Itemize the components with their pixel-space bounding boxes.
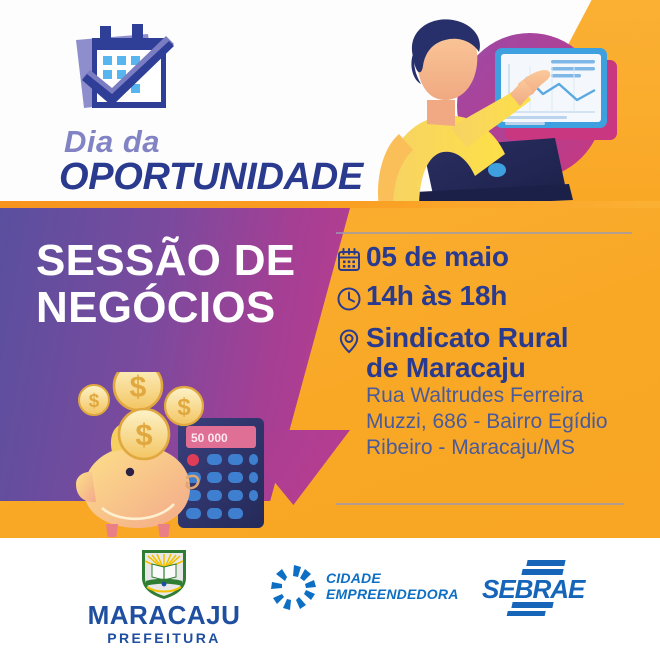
footer-logos: MARACAJU PREFEITURA xyxy=(0,538,660,660)
map-pin-icon xyxy=(336,328,366,354)
man-presenting-chart-illustration xyxy=(355,8,655,213)
detail-row-time: 14h às 18h xyxy=(336,281,636,312)
prefeitura-label: PREFEITURA xyxy=(84,631,244,645)
venue-address-line-3: Ribeiro - Maracaju/MS xyxy=(366,436,636,461)
venue-address-line-1: Rua Waltrudes Ferreira xyxy=(366,384,636,409)
maracaju-coat-of-arms-icon xyxy=(138,548,190,600)
detail-location-text: Sindicato Rural de Maracaju Rua Waltrude… xyxy=(366,323,636,461)
cidade-line-2: EMPREENDEDORA xyxy=(326,587,459,603)
event-details: 05 de maio 14h às 18h Sind xyxy=(336,232,636,512)
event-time: 14h às 18h xyxy=(366,281,636,311)
svg-text:$: $ xyxy=(177,394,191,421)
calendar-icon xyxy=(336,247,366,273)
sebrae-label: SEBRAE xyxy=(482,574,586,604)
svg-text:$: $ xyxy=(135,417,152,452)
venue-name-line-1: Sindicato Rural xyxy=(366,323,636,353)
piggy-bank-coins-calculator-illustration: 50 000 xyxy=(72,372,317,537)
brand-lockup: Dia da OPORTUNIDADE xyxy=(58,22,358,197)
logo-maracaju-prefeitura: MARACAJU PREFEITURA xyxy=(84,548,244,648)
logo-cidade-empreendedora: CIDADE EMPREENDEDORA xyxy=(268,560,448,614)
detail-row-date: 05 de maio xyxy=(336,242,636,273)
brand-line-1: Dia da xyxy=(64,126,160,157)
logo-sebrae: SEBRAE xyxy=(480,558,600,616)
svg-text:$: $ xyxy=(130,372,147,404)
detail-date-text: 05 de maio xyxy=(366,242,636,272)
venue-name-line-2: de Maracaju xyxy=(366,353,636,383)
headline-line-2: NEGÓCIOS xyxy=(36,285,326,332)
cidade-line-1: CIDADE xyxy=(326,571,459,587)
clock-icon xyxy=(336,286,366,312)
poster-canvas: Dia da OPORTUNIDADE xyxy=(0,0,660,660)
venue-address-line-2: Muzzi, 686 - Bairro Egídio xyxy=(366,410,636,435)
svg-text:$: $ xyxy=(89,391,100,412)
detail-row-location: Sindicato Rural de Maracaju Rua Waltrude… xyxy=(336,323,636,461)
calendar-check-icon xyxy=(70,22,188,118)
headline: SESSÃO DE NEGÓCIOS xyxy=(36,238,326,331)
maracaju-label: MARACAJU xyxy=(84,602,244,628)
event-date: 05 de maio xyxy=(366,242,636,272)
cidade-empreendedora-label: CIDADE EMPREENDEDORA xyxy=(326,571,459,602)
cidade-empreendedora-icon xyxy=(268,561,320,613)
details-bottom-rule xyxy=(336,503,624,505)
details-top-rule xyxy=(336,232,632,234)
brand-line-2: OPORTUNIDADE xyxy=(59,158,363,196)
detail-time-text: 14h às 18h xyxy=(366,281,636,311)
headline-line-1: SESSÃO DE xyxy=(36,238,326,285)
calculator-display: 50 000 xyxy=(191,431,228,445)
